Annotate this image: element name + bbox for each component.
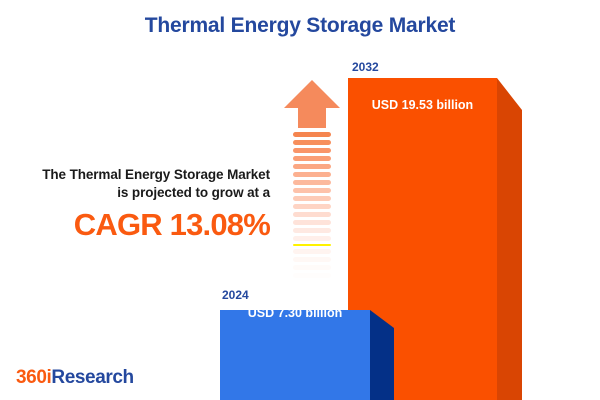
bar-value-2024: USD 7.30 billion [220, 306, 370, 320]
bar-2024-front-face [220, 310, 370, 400]
brand-logo: 360iResearch [16, 367, 134, 389]
bar-2024-side-face [370, 310, 394, 400]
cagr-value: CAGR 13.08% [8, 208, 270, 242]
page-title: Thermal Energy Storage Market [0, 14, 600, 38]
infographic-canvas: Thermal Energy Storage Market [0, 0, 600, 400]
bar-2032-side-face [497, 78, 522, 400]
bar-label-2024: 2024 [222, 288, 249, 302]
arrow-head-icon [282, 78, 342, 130]
cagr-line-2: is projected to grow at a [8, 184, 270, 202]
cagr-statement: The Thermal Energy Storage Market is pro… [8, 166, 270, 242]
logo-text-360: 360 [16, 367, 47, 388]
bar-label-2032: 2032 [352, 60, 379, 74]
cagr-line-1: The Thermal Energy Storage Market [8, 166, 270, 184]
bar-value-2032: USD 19.53 billion [348, 98, 497, 112]
arrow-stripes [293, 132, 331, 281]
logo-text-research: Research [51, 367, 133, 388]
up-arrow-icon [282, 78, 342, 293]
bar-2024: 2024 USD 7.30 billion [220, 288, 394, 400]
arrow-accent-line [293, 244, 331, 246]
